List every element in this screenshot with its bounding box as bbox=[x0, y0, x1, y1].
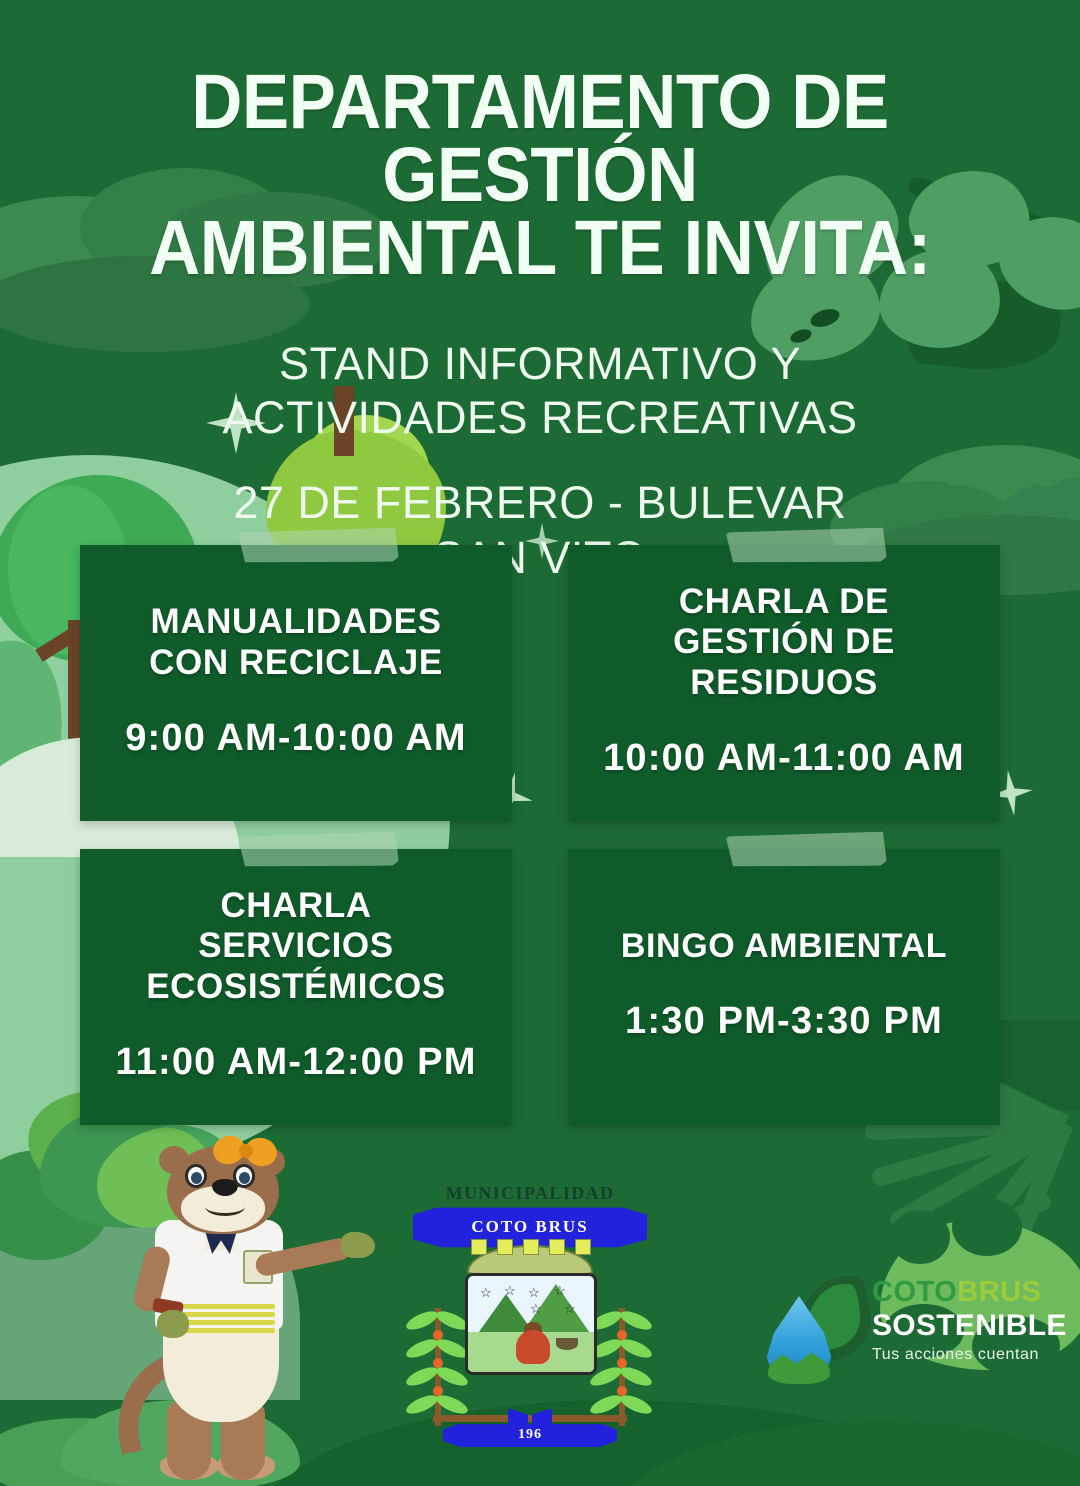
mascot-pupil-left bbox=[191, 1172, 202, 1184]
schedule-card-servicios-ecosistemicos[interactable]: CHARLA SERVICIOS ECOSISTÉMICOS 11:00 AM-… bbox=[80, 849, 512, 1125]
mascot-pupil-right bbox=[239, 1172, 250, 1184]
poster-canvas: DEPARTAMENTO DE GESTIÓN AMBIENTAL TE INV… bbox=[0, 0, 1080, 1486]
schedule-card-title: MANUALIDADES CON RECICLAJE bbox=[149, 602, 443, 683]
subtitle-line-3: 27 DE FEBRERO - BULEVAR bbox=[90, 476, 990, 531]
schedule-card-time: 11:00 AM-12:00 PM bbox=[115, 1041, 476, 1084]
schedule-card-bingo-ambiental[interactable]: BINGO AMBIENTAL 1:30 PM-3:30 PM bbox=[568, 849, 1000, 1125]
card-title-line-2: CON RECICLAJE bbox=[149, 643, 443, 684]
page-title: DEPARTAMENTO DE GESTIÓN AMBIENTAL TE INV… bbox=[43, 52, 1037, 285]
card-title-line-3: ECOSISTÉMICOS bbox=[146, 967, 446, 1008]
tape-strip-icon bbox=[726, 832, 887, 869]
coat-wreath-left bbox=[409, 1308, 467, 1426]
municipality-coat-of-arms: MUNICIPALIDAD COTO BRUS bbox=[405, 1183, 655, 1448]
logo-line-2: SOSTENIBLE bbox=[872, 1310, 1040, 1342]
schedule-card-gestion-residuos[interactable]: CHARLA DE GESTIÓN DE RESIDUOS 10:00 AM-1… bbox=[568, 545, 1000, 821]
schedule-card-time: 9:00 AM-10:00 AM bbox=[125, 717, 467, 760]
tape-strip-icon bbox=[238, 832, 399, 869]
mascot-bow-icon bbox=[213, 1136, 279, 1166]
schedule-card-manualidades[interactable]: MANUALIDADES CON RECICLAJE 9:00 AM-10:00… bbox=[80, 545, 512, 821]
logo-line-1: COTOBRUS bbox=[872, 1278, 1040, 1307]
coto-brus-sostenible-logo: COTOBRUS SOSTENIBLE Tus acciones cuentan bbox=[760, 1274, 1040, 1394]
coat-ribbon-bottom: 196 bbox=[443, 1422, 617, 1448]
subtitle-line-2: ACTIVIDADES RECREATIVAS bbox=[90, 391, 990, 446]
card-title-line-1: CHARLA bbox=[146, 886, 446, 927]
subtitle-line-1: STAND INFORMATIVO Y bbox=[90, 337, 990, 392]
card-title-line-2: GESTIÓN DE bbox=[673, 622, 895, 663]
card-title-line-1: BINGO AMBIENTAL bbox=[621, 927, 947, 966]
schedule-card-time: 10:00 AM-11:00 AM bbox=[603, 737, 965, 780]
card-title-line-3: RESIDUOS bbox=[673, 663, 895, 704]
coat-year-text: 196 bbox=[443, 1422, 617, 1448]
schedule-row-1: MANUALIDADES CON RECICLAJE 9:00 AM-10:00… bbox=[0, 545, 1080, 821]
logo-word-brus: BRUS bbox=[957, 1276, 1041, 1308]
coat-top-text: MUNICIPALIDAD bbox=[405, 1183, 655, 1204]
logo-word-coto: COTO bbox=[872, 1276, 957, 1308]
schedule-card-title: BINGO AMBIENTAL bbox=[621, 927, 947, 966]
schedule-grid: MANUALIDADES CON RECICLAJE 9:00 AM-10:00… bbox=[0, 545, 1080, 1153]
card-title-line-1: CHARLA DE bbox=[673, 582, 895, 623]
logo-tagline: Tus acciones cuentan bbox=[872, 1346, 1040, 1364]
schedule-card-time: 1:30 PM-3:30 PM bbox=[625, 1000, 943, 1043]
mascot-hand-left bbox=[157, 1310, 189, 1338]
tape-strip-icon bbox=[726, 528, 887, 565]
footer-logos: MUNICIPALIDAD COTO BRUS bbox=[0, 1106, 1080, 1486]
mascot-hand-pointing bbox=[341, 1232, 375, 1258]
title-line-2: AMBIENTAL TE INVITA: bbox=[52, 212, 1027, 285]
schedule-card-title: CHARLA SERVICIOS ECOSISTÉMICOS bbox=[146, 886, 446, 1008]
otter-mascot-illustration bbox=[105, 1140, 375, 1480]
logo-wordmark: COTOBRUS SOSTENIBLE Tus acciones cuentan bbox=[872, 1278, 1040, 1364]
card-title-line-1: MANUALIDADES bbox=[149, 602, 443, 643]
coat-wreath-right bbox=[593, 1308, 651, 1426]
schedule-row-2: CHARLA SERVICIOS ECOSISTÉMICOS 11:00 AM-… bbox=[0, 849, 1080, 1125]
logo-mark bbox=[760, 1276, 870, 1390]
title-line-1: DEPARTAMENTO DE GESTIÓN bbox=[191, 59, 889, 218]
card-title-line-2: SERVICIOS bbox=[146, 926, 446, 967]
coat-shield: ☆ ☆ ☆ ☆ ☆ ☆ bbox=[465, 1273, 597, 1375]
schedule-card-title: CHARLA DE GESTIÓN DE RESIDUOS bbox=[673, 582, 895, 704]
tape-strip-icon bbox=[238, 528, 399, 565]
mascot-smile bbox=[205, 1197, 245, 1216]
